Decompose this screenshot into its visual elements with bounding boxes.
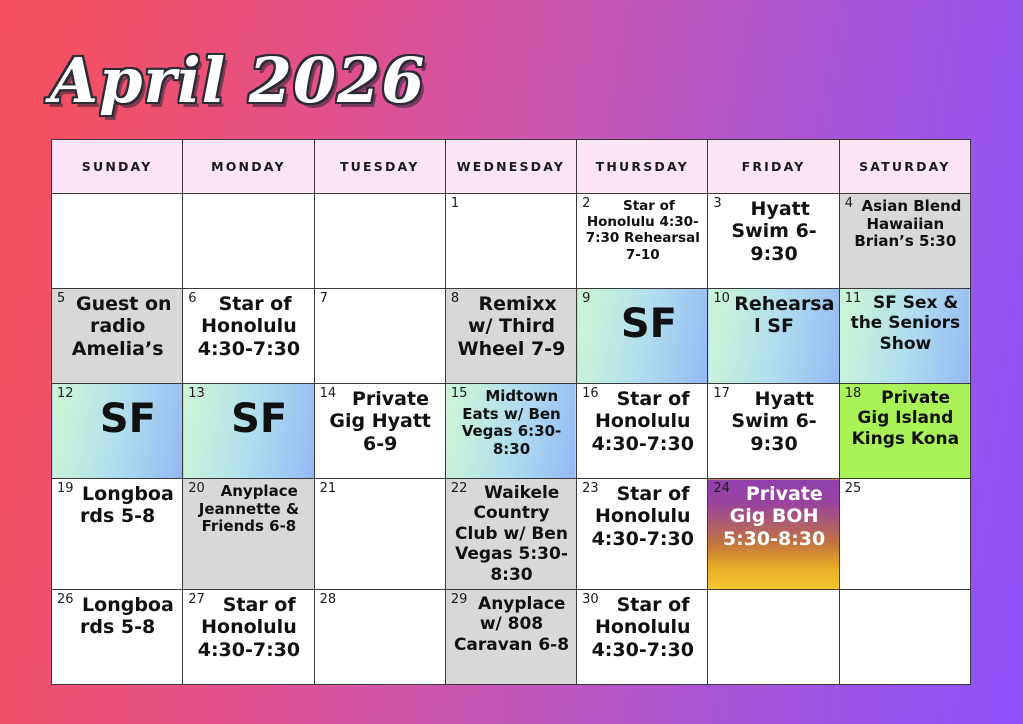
calendar-week-row: 12SF13SF14Private Gig Hyatt 6-915Midtown… xyxy=(52,384,971,479)
day-cell-26[interactable]: 26Longboards 5-8 xyxy=(52,589,183,684)
day-cell-empty[interactable] xyxy=(839,589,970,684)
weekday-header-friday: FRIDAY xyxy=(708,140,839,194)
day-number: 1 xyxy=(451,197,459,210)
day-cell-25[interactable]: 25 xyxy=(839,479,970,590)
day-cell-empty[interactable] xyxy=(314,194,445,289)
calendar-body: 12Star of Honolulu 4:30-7:30 Rehearsal 7… xyxy=(52,194,971,685)
day-number: 19 xyxy=(57,482,74,495)
day-cell-29[interactable]: 29Anyplace w/ 808 Caravan 6-8 xyxy=(445,589,576,684)
day-number: 3 xyxy=(713,197,721,210)
weekday-header-monday: MONDAY xyxy=(183,140,314,194)
day-number: 17 xyxy=(713,387,730,400)
day-cell-empty[interactable] xyxy=(52,194,183,289)
weekday-header-saturday: SATURDAY xyxy=(839,140,970,194)
day-cell-27[interactable]: 27Star of Honolulu 4:30-7:30 xyxy=(183,589,314,684)
day-cell-17[interactable]: 17Hyatt Swim 6-9:30 xyxy=(708,384,839,479)
day-number: 14 xyxy=(320,387,337,400)
day-cell-16[interactable]: 16Star of Honolulu 4:30-7:30 xyxy=(577,384,708,479)
day-number: 28 xyxy=(320,593,337,606)
day-cell-15[interactable]: 15Midtown Eats w/ Ben Vegas 6:30-8:30 xyxy=(445,384,576,479)
day-event-text: Star of Honolulu 4:30-7:30 xyxy=(582,482,703,550)
day-cell-empty[interactable] xyxy=(708,589,839,684)
calendar-week-row: 19Longboards 5-820Anyplace Jeannette & F… xyxy=(52,479,971,590)
day-number: 10 xyxy=(713,292,730,305)
day-number: 15 xyxy=(451,387,468,400)
day-event-text: Longboards 5-8 xyxy=(57,482,178,528)
day-number: 22 xyxy=(451,482,468,495)
day-event-text: Longboards 5-8 xyxy=(57,593,178,639)
day-event-text xyxy=(320,593,441,594)
day-event-text: Rehearsal SF xyxy=(713,292,834,338)
day-event-text: SF xyxy=(57,387,178,441)
day-event-text: SF Sex & the Seniors Show xyxy=(845,292,966,354)
day-event-text: SF xyxy=(582,292,703,346)
weekday-header-thursday: THURSDAY xyxy=(577,140,708,194)
day-event-text: Anyplace w/ 808 Caravan 6-8 xyxy=(451,593,572,655)
day-event-text: Star of Honolulu 4:30-7:30 xyxy=(582,593,703,661)
weekday-header-tuesday: TUESDAY xyxy=(314,140,445,194)
day-number: 29 xyxy=(451,593,468,606)
day-number: 16 xyxy=(582,387,599,400)
day-cell-23[interactable]: 23Star of Honolulu 4:30-7:30 xyxy=(577,479,708,590)
day-cell-12[interactable]: 12SF xyxy=(52,384,183,479)
calendar-header: SUNDAYMONDAYTUESDAYWEDNESDAYTHURSDAYFRID… xyxy=(52,140,971,194)
weekday-header-wednesday: WEDNESDAY xyxy=(445,140,576,194)
day-event-text: Hyatt Swim 6-9:30 xyxy=(713,197,834,265)
day-event-text: Private Gig Hyatt 6-9 xyxy=(320,387,441,455)
day-event-text xyxy=(845,593,966,594)
day-event-text xyxy=(713,593,834,594)
day-event-text: Asian Blend Hawaiian Brian’s 5:30 xyxy=(845,197,966,251)
day-number: 12 xyxy=(57,387,74,400)
day-cell-5[interactable]: 5Guest on radio Amelia’s xyxy=(52,289,183,384)
day-number: 13 xyxy=(188,387,205,400)
day-event-text xyxy=(320,292,441,293)
day-number: 11 xyxy=(845,292,862,305)
day-number: 6 xyxy=(188,292,196,305)
day-number: 18 xyxy=(845,387,862,400)
day-cell-14[interactable]: 14Private Gig Hyatt 6-9 xyxy=(314,384,445,479)
day-event-text xyxy=(57,197,178,198)
day-event-text xyxy=(188,197,309,198)
day-event-text: Private Gig Island Kings Kona xyxy=(845,387,966,449)
day-cell-3[interactable]: 3Hyatt Swim 6-9:30 xyxy=(708,194,839,289)
day-number: 9 xyxy=(582,292,590,305)
day-number: 27 xyxy=(188,593,205,606)
day-number: 20 xyxy=(188,482,205,495)
day-event-text: Anyplace Jeannette & Friends 6-8 xyxy=(188,482,309,536)
day-cell-11[interactable]: 11SF Sex & the Seniors Show xyxy=(839,289,970,384)
day-event-text xyxy=(451,197,572,198)
day-event-text: Star of Honolulu 4:30-7:30 xyxy=(188,593,309,661)
day-cell-30[interactable]: 30Star of Honolulu 4:30-7:30 xyxy=(577,589,708,684)
day-number: 23 xyxy=(582,482,599,495)
day-number: 4 xyxy=(845,197,853,210)
day-cell-28[interactable]: 28 xyxy=(314,589,445,684)
day-cell-7[interactable]: 7 xyxy=(314,289,445,384)
day-cell-6[interactable]: 6Star of Honolulu 4:30-7:30 xyxy=(183,289,314,384)
day-cell-empty[interactable] xyxy=(183,194,314,289)
day-event-text: SF xyxy=(188,387,309,441)
day-cell-1[interactable]: 1 xyxy=(445,194,576,289)
day-number: 30 xyxy=(582,593,599,606)
day-cell-9[interactable]: 9SF xyxy=(577,289,708,384)
day-cell-20[interactable]: 20Anyplace Jeannette & Friends 6-8 xyxy=(183,479,314,590)
day-event-text xyxy=(845,482,966,483)
page-title: April 2026 xyxy=(50,44,425,117)
day-event-text: Waikele Country Club w/ Ben Vegas 5:30-8… xyxy=(451,482,572,585)
day-cell-21[interactable]: 21 xyxy=(314,479,445,590)
weekday-header-sunday: SUNDAY xyxy=(52,140,183,194)
calendar-week-row: 5Guest on radio Amelia’s6Star of Honolul… xyxy=(52,289,971,384)
day-cell-18[interactable]: 18Private Gig Island Kings Kona xyxy=(839,384,970,479)
weekday-header-row: SUNDAYMONDAYTUESDAYWEDNESDAYTHURSDAYFRID… xyxy=(52,140,971,194)
day-event-text: Star of Honolulu 4:30-7:30 xyxy=(188,292,309,360)
day-cell-22[interactable]: 22Waikele Country Club w/ Ben Vegas 5:30… xyxy=(445,479,576,590)
month-calendar: SUNDAYMONDAYTUESDAYWEDNESDAYTHURSDAYFRID… xyxy=(51,139,971,685)
day-event-text: Guest on radio Amelia’s xyxy=(57,292,178,360)
day-event-text: Star of Honolulu 4:30-7:30 Rehearsal 7-1… xyxy=(582,197,703,263)
day-event-text xyxy=(320,197,441,198)
day-number: 24 xyxy=(713,482,730,495)
day-number: 5 xyxy=(57,292,65,305)
day-cell-24[interactable]: 24Private Gig BOH 5:30-8:30 xyxy=(708,479,839,590)
calendar-week-row: 26Longboards 5-827Star of Honolulu 4:30-… xyxy=(52,589,971,684)
day-event-text: Remixx w/ Third Wheel 7-9 xyxy=(451,292,572,360)
day-event-text xyxy=(320,482,441,483)
day-cell-4[interactable]: 4Asian Blend Hawaiian Brian’s 5:30 xyxy=(839,194,970,289)
day-cell-2[interactable]: 2Star of Honolulu 4:30-7:30 Rehearsal 7-… xyxy=(577,194,708,289)
day-cell-10[interactable]: 10Rehearsal SF xyxy=(708,289,839,384)
day-event-text: Midtown Eats w/ Ben Vegas 6:30-8:30 xyxy=(451,387,572,459)
day-number: 21 xyxy=(320,482,337,495)
day-number: 7 xyxy=(320,292,328,305)
day-number: 25 xyxy=(845,482,862,495)
calendar-week-row: 12Star of Honolulu 4:30-7:30 Rehearsal 7… xyxy=(52,194,971,289)
day-event-text: Hyatt Swim 6-9:30 xyxy=(713,387,834,455)
day-cell-8[interactable]: 8Remixx w/ Third Wheel 7-9 xyxy=(445,289,576,384)
day-number: 26 xyxy=(57,593,74,606)
day-cell-19[interactable]: 19Longboards 5-8 xyxy=(52,479,183,590)
day-number: 2 xyxy=(582,197,590,210)
day-number: 8 xyxy=(451,292,459,305)
day-event-text: Star of Honolulu 4:30-7:30 xyxy=(582,387,703,455)
day-cell-13[interactable]: 13SF xyxy=(183,384,314,479)
day-event-text: Private Gig BOH 5:30-8:30 xyxy=(713,482,834,550)
calendar-poster: April 2026 SUNDAYMONDAYTUESDAYWEDNESDAYT… xyxy=(0,0,1023,724)
